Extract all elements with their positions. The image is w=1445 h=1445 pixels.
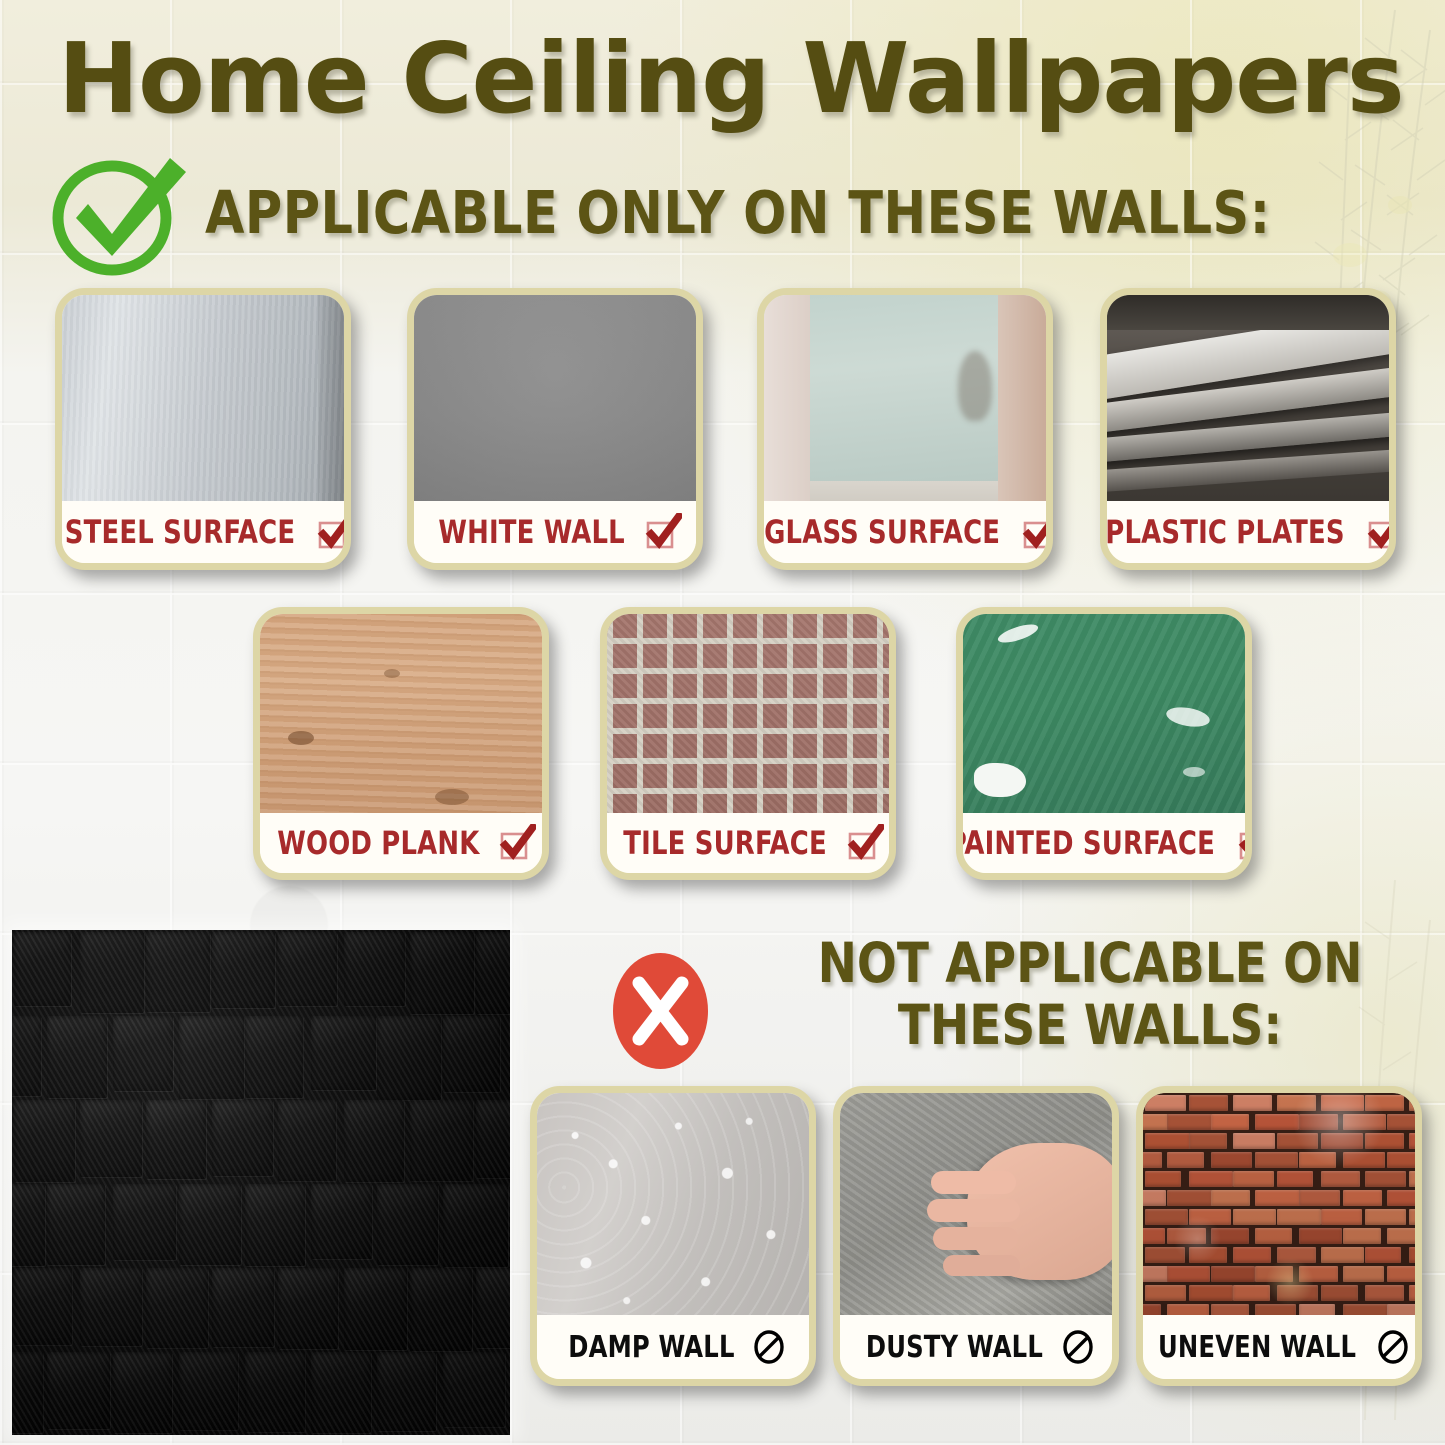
card-label-strip: UNEVEN WALL bbox=[1143, 1315, 1415, 1379]
not-applicable-heading: NOT APPLICABLE ON THESE WALLS: bbox=[753, 932, 1428, 1056]
card-glass-surface[interactable]: GLASS SURFACE bbox=[757, 288, 1053, 570]
prohibited-icon bbox=[1375, 1329, 1411, 1365]
card-label-strip: GLASS SURFACE bbox=[764, 501, 1046, 563]
card-uneven-wall[interactable]: UNEVEN WALL bbox=[1136, 1086, 1422, 1386]
card-label: TILE SURFACE bbox=[623, 824, 827, 862]
card-label-strip: PLASTIC PLATES bbox=[1107, 501, 1389, 563]
card-label: WOOD PLANK bbox=[277, 824, 479, 862]
steel-surface-photo bbox=[62, 295, 344, 515]
card-label-strip: PAINTED SURFACE bbox=[963, 813, 1245, 873]
applicable-heading: APPLICABLE ONLY ON THESE WALLS: bbox=[205, 183, 1386, 242]
card-white-wall[interactable]: WHITE WALL bbox=[407, 288, 703, 570]
red-check-box-icon bbox=[644, 513, 682, 551]
card-label: PAINTED SURFACE bbox=[956, 824, 1215, 862]
card-label-strip: DUSTY WALL bbox=[840, 1315, 1112, 1379]
card-label: UNEVEN WALL bbox=[1158, 1330, 1356, 1365]
red-check-box-icon bbox=[316, 513, 351, 551]
uneven-wall-photo bbox=[1143, 1093, 1415, 1329]
plastic-plates-photo bbox=[1107, 295, 1389, 515]
dusty-wall-photo bbox=[840, 1093, 1112, 1329]
card-wood-plank[interactable]: WOOD PLANK bbox=[253, 607, 549, 880]
red-cross-circle-icon bbox=[613, 953, 708, 1069]
card-label: DUSTY WALL bbox=[865, 1330, 1042, 1365]
card-label-strip: WHITE WALL bbox=[414, 501, 696, 563]
card-label-strip: WOOD PLANK bbox=[260, 813, 542, 873]
page-title: Home Ceiling Wallpapers bbox=[58, 30, 1408, 127]
red-check-box-icon bbox=[1366, 513, 1396, 551]
red-check-box-icon bbox=[1021, 513, 1053, 551]
card-label: DAMP WALL bbox=[568, 1330, 734, 1365]
card-steel-surface[interactable]: STEEL SURFACE bbox=[55, 288, 351, 570]
infographic-canvas: Home Ceiling Wallpapers APPLICABLE ONLY … bbox=[0, 0, 1445, 1445]
painted-surface-photo bbox=[963, 614, 1245, 827]
card-label-strip: STEEL SURFACE bbox=[62, 501, 344, 563]
black-3d-brick-wallpaper-panel bbox=[12, 930, 510, 1435]
card-tile-surface[interactable]: TILE SURFACE bbox=[600, 607, 896, 880]
card-dusty-wall[interactable]: DUSTY WALL bbox=[833, 1086, 1119, 1386]
tile-surface-photo bbox=[607, 614, 889, 827]
glass-surface-photo bbox=[764, 295, 1046, 515]
damp-wall-photo bbox=[537, 1093, 809, 1329]
red-check-box-icon bbox=[498, 824, 536, 862]
card-label: PLASTIC PLATES bbox=[1105, 513, 1344, 551]
not-applicable-heading-line1: NOT APPLICABLE ON bbox=[753, 932, 1428, 994]
red-check-box-icon bbox=[1237, 824, 1252, 862]
not-applicable-heading-line2: THESE WALLS: bbox=[753, 994, 1428, 1056]
prohibited-icon bbox=[1060, 1329, 1096, 1365]
card-label: STEEL SURFACE bbox=[65, 513, 295, 551]
white-wall-photo bbox=[414, 295, 696, 515]
card-damp-wall[interactable]: DAMP WALL bbox=[530, 1086, 816, 1386]
card-label: GLASS SURFACE bbox=[764, 513, 1000, 551]
card-label: WHITE WALL bbox=[439, 513, 625, 551]
card-painted-surface[interactable]: PAINTED SURFACE bbox=[956, 607, 1252, 880]
card-plastic-plates[interactable]: PLASTIC PLATES bbox=[1100, 288, 1396, 570]
wood-plank-photo bbox=[260, 614, 542, 827]
green-check-circle-icon bbox=[46, 152, 196, 282]
red-check-box-icon bbox=[846, 824, 884, 862]
prohibited-icon bbox=[751, 1329, 787, 1365]
card-label-strip: DAMP WALL bbox=[537, 1315, 809, 1379]
card-label-strip: TILE SURFACE bbox=[607, 813, 889, 873]
